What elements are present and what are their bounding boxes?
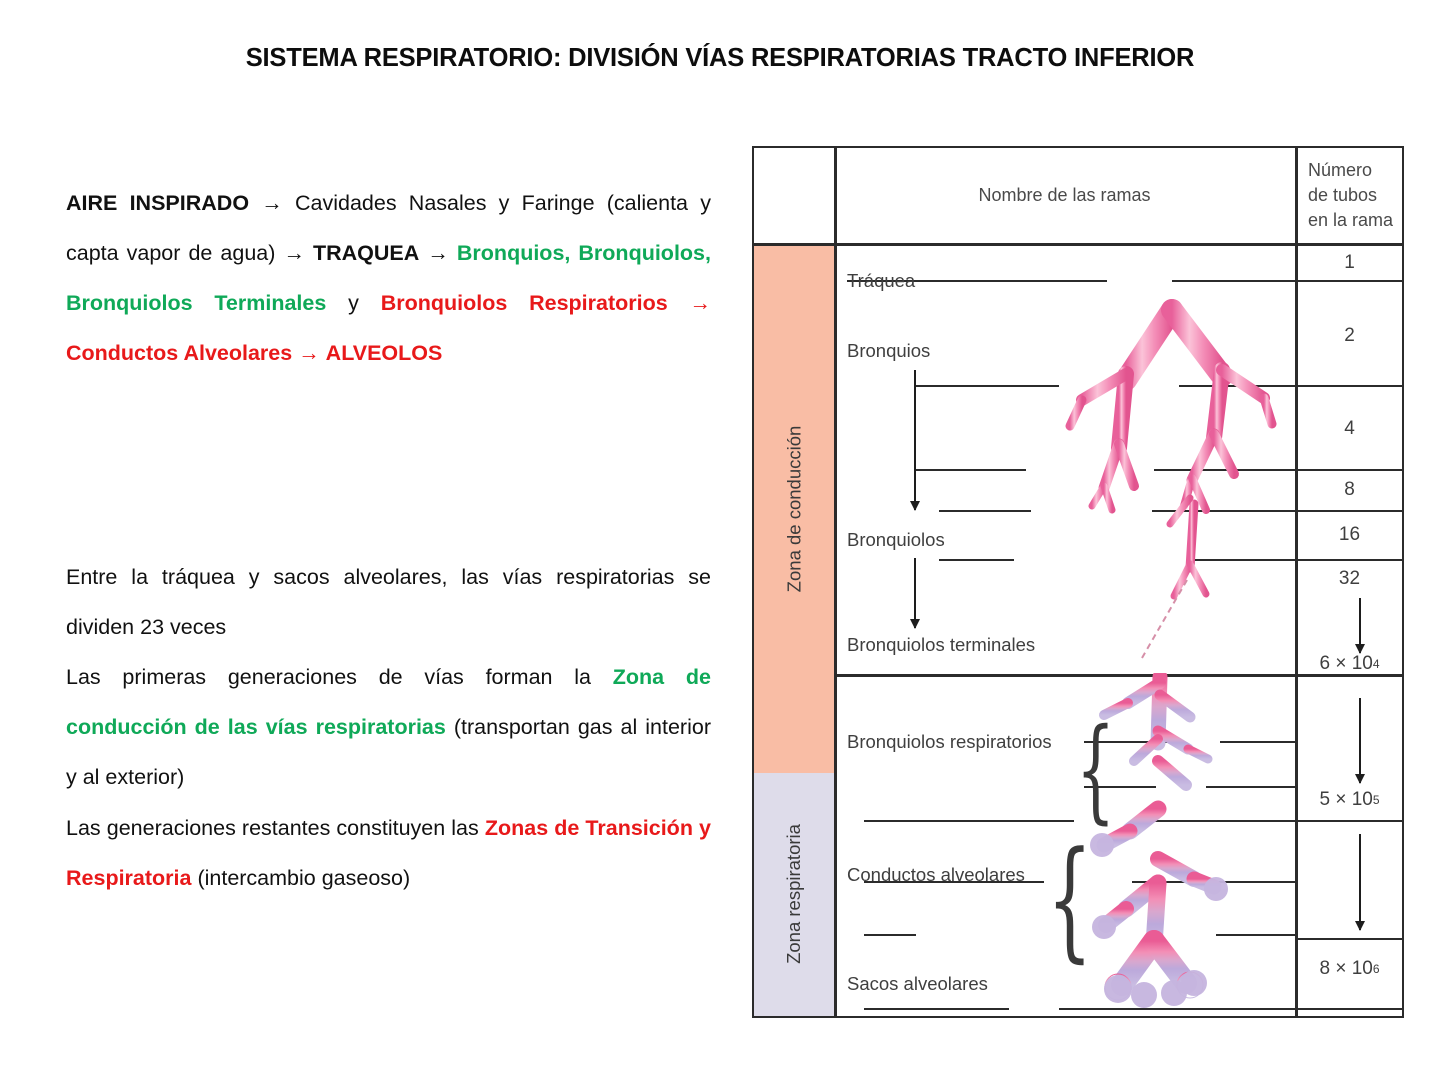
count-value-gen32: 32 bbox=[1339, 568, 1360, 590]
arrow-icon-4: → bbox=[690, 291, 712, 315]
alveolos-label: ALVEOLOS bbox=[326, 341, 443, 365]
count-cell-gen32: 32 bbox=[1297, 563, 1402, 595]
arrow-icon-2: → bbox=[283, 241, 305, 265]
bronchial-tree-illustration bbox=[1064, 248, 1279, 688]
count-cell-traquea: 1 bbox=[1297, 245, 1402, 280]
column-divider-zone bbox=[834, 148, 837, 1016]
tube-count-line-1: Número bbox=[1308, 158, 1402, 183]
airway-division-table: Nombre de las ramas Número de tubos en l… bbox=[752, 146, 1404, 1018]
tick-bronquios-left bbox=[914, 385, 1059, 387]
tick-gen16-right bbox=[1194, 559, 1295, 561]
count-cell-gen16: 16 bbox=[1297, 518, 1402, 552]
tick-resp-bottom-a bbox=[864, 820, 1074, 822]
tick-gen8-left bbox=[939, 510, 1031, 512]
p3-lead: Las primeras generaciones de vías forman… bbox=[66, 665, 591, 689]
p4-tail: (intercambio gaseoso) bbox=[197, 866, 410, 890]
row-label-bronquiolos-terminales: Bronquiolos terminales bbox=[847, 634, 1035, 656]
tick-resp-bronch-2b bbox=[1206, 786, 1295, 788]
traquea-label: TRAQUEA bbox=[313, 241, 419, 265]
row-label-conductos-alveolares: Conductos alveolares bbox=[847, 864, 1025, 886]
p1-conjunction: y bbox=[348, 291, 359, 315]
count-cell-bronquios: 2 bbox=[1297, 318, 1402, 353]
flow-arrow-count-sacos bbox=[1359, 834, 1361, 930]
left-text-column: AIRE INSPIRADO → Cavidades Nasales y Far… bbox=[66, 178, 711, 378]
row-label-bronquiolos-respiratorios: Bronquiolos respiratorios bbox=[847, 731, 1052, 753]
zone-label-conduction: Zona de conducción bbox=[783, 426, 805, 593]
alveolar-ducts-label: Conductos Alveolares bbox=[66, 341, 292, 365]
paragraph-divisions: Entre la tráquea y sacos alveolares, las… bbox=[66, 552, 711, 652]
count-value-sacos: 8 × 10 bbox=[1319, 958, 1372, 980]
respiratory-bronchioles-label: Bronquiolos Respiratorios bbox=[381, 291, 668, 315]
tick-resp-bottom-b bbox=[1134, 820, 1295, 822]
dashed-connector-line bbox=[1141, 580, 1188, 659]
rule-count-6 bbox=[1297, 820, 1402, 822]
count-value-traquea: 1 bbox=[1344, 252, 1355, 274]
count-exp-respiratorios: 5 bbox=[1373, 793, 1380, 807]
count-cell-sacos: 8 × 106 bbox=[1297, 953, 1402, 985]
column-header-tube-count: Número de tubos en la rama bbox=[1297, 148, 1402, 243]
count-exp-terminales: 4 bbox=[1373, 657, 1380, 671]
tube-count-line-3: en la rama bbox=[1308, 208, 1402, 233]
brace-respiratory-bronchioles: { bbox=[1076, 714, 1115, 826]
tick-sacs-b bbox=[1059, 1008, 1295, 1010]
row-label-bronquios: Bronquios bbox=[847, 340, 930, 362]
count-cell-gen4: 4 bbox=[1297, 411, 1402, 446]
flow-arrow-bronquiolos-to-terminales bbox=[914, 558, 916, 628]
zone-band-conduction: Zona de conducción bbox=[754, 246, 834, 773]
tick-duct-2b bbox=[1216, 934, 1295, 936]
arrow-icon-5: → bbox=[298, 341, 320, 365]
tick-gen8-right bbox=[1152, 510, 1295, 512]
count-value-terminales: 6 × 10 bbox=[1319, 653, 1372, 675]
row-label-traquea: Tráquea bbox=[847, 270, 915, 292]
rule-count-8 bbox=[1297, 1008, 1402, 1010]
rule-count-7 bbox=[1297, 938, 1402, 940]
tube-count-line-2: de tubos bbox=[1308, 183, 1402, 208]
paragraph-conduction-zone-text: Las primeras generaciones de vías forman… bbox=[66, 652, 711, 802]
brace-alveolar-ducts: { bbox=[1047, 834, 1092, 964]
page-title: SISTEMA RESPIRATORIO: DIVISIÓN VÍAS RESP… bbox=[0, 44, 1440, 73]
paragraph-respiratory-zone: Las generaciones restantes constituyen l… bbox=[66, 803, 711, 903]
tick-duct-1b bbox=[1132, 881, 1295, 883]
rule-count-4 bbox=[1297, 510, 1402, 512]
count-value-gen4: 4 bbox=[1344, 418, 1355, 440]
rule-count-3 bbox=[1297, 469, 1402, 471]
count-cell-gen8: 8 bbox=[1297, 475, 1402, 505]
paragraph-divisions-text: Entre la tráquea y sacos alveolares, las… bbox=[66, 552, 711, 652]
tick-resp-bronch-1b bbox=[1220, 741, 1295, 743]
tick-gen16-left bbox=[939, 559, 1014, 561]
aire-inspirado-label: AIRE INSPIRADO bbox=[66, 191, 249, 215]
tick-bronquios-right bbox=[1179, 385, 1295, 387]
p4-lead: Las generaciones restantes constituyen l… bbox=[66, 816, 479, 840]
zone-label-respiratory: Zona respiratoria bbox=[783, 824, 805, 964]
tick-sacs-a bbox=[864, 1008, 1009, 1010]
rule-count-1 bbox=[1297, 280, 1402, 282]
flow-arrow-count-respiratorios bbox=[1359, 698, 1361, 783]
count-cell-terminales: 6 × 104 bbox=[1297, 648, 1402, 680]
count-value-gen8: 8 bbox=[1344, 479, 1355, 501]
rule-count-5 bbox=[1297, 559, 1402, 561]
count-value-gen16: 16 bbox=[1339, 524, 1360, 546]
arrow-icon-1: → bbox=[261, 191, 283, 215]
row-label-bronquiolos: Bronquiolos bbox=[847, 529, 945, 551]
paragraph-airflow: AIRE INSPIRADO → Cavidades Nasales y Far… bbox=[66, 178, 711, 378]
flow-arrow-count-terminales bbox=[1359, 598, 1361, 653]
count-value-respiratorios: 5 × 10 bbox=[1319, 789, 1372, 811]
count-cell-respiratorios: 5 × 105 bbox=[1297, 784, 1402, 816]
tick-duct-2a bbox=[864, 934, 916, 936]
arrow-icon-3: → bbox=[427, 241, 449, 265]
flow-arrow-bronquios-to-bronquiolos bbox=[914, 370, 916, 510]
column-header-branch-name: Nombre de las ramas bbox=[834, 148, 1295, 243]
paragraph-conduction-zone: Las primeras generaciones de vías forman… bbox=[66, 652, 711, 802]
zone-band-respiratory: Zona respiratoria bbox=[754, 773, 834, 1017]
count-exp-sacos: 6 bbox=[1373, 962, 1380, 976]
row-label-sacos-alveolares: Sacos alveolares bbox=[847, 973, 988, 995]
tick-gen4-right bbox=[1154, 469, 1295, 471]
tick-gen4-left bbox=[914, 469, 1026, 471]
rule-count-2 bbox=[1297, 385, 1402, 387]
paragraph-respiratory-zone-text: Las generaciones restantes constituyen l… bbox=[66, 803, 711, 903]
count-value-bronquios: 2 bbox=[1344, 325, 1355, 347]
tick-traquea-right bbox=[1172, 280, 1295, 282]
